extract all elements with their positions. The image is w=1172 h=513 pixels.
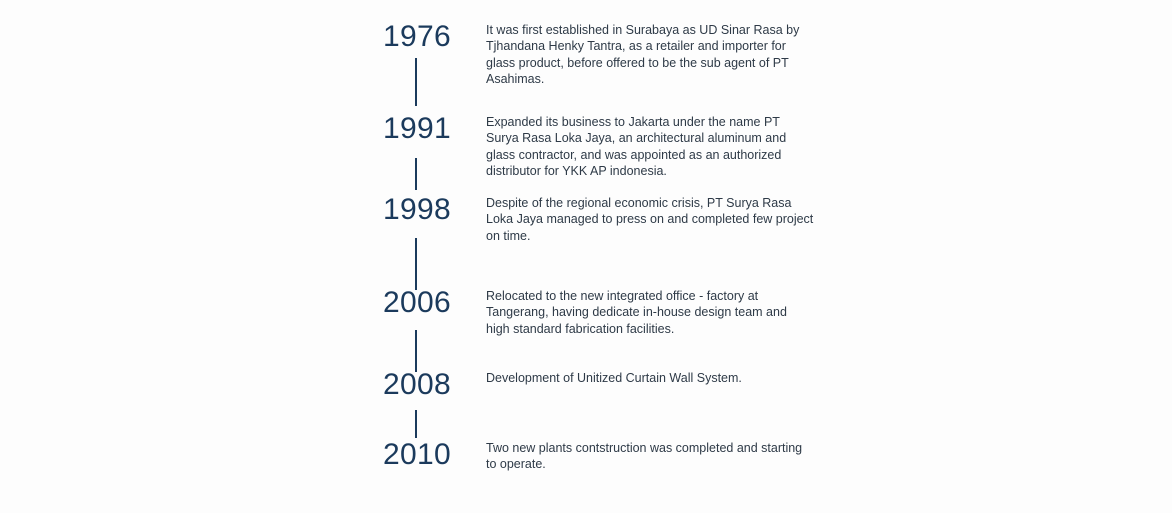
- timeline-connector-segment: [415, 238, 417, 290]
- timeline-year-column: 2008: [0, 370, 451, 400]
- timeline-year-label: 1991: [383, 114, 451, 144]
- timeline-year-label: 2006: [383, 288, 451, 318]
- timeline-year-column: 2010: [0, 440, 451, 470]
- timeline-description-column: Development of Unitized Curtain Wall Sys…: [486, 370, 808, 386]
- timeline-year-column: 2006: [0, 288, 451, 318]
- timeline-milestone: 2008 Development of Unitized Curtain Wal…: [0, 370, 808, 400]
- history-timeline: 1976 It was first established in Surabay…: [0, 0, 1172, 513]
- timeline-description-text: Two new plants contstruction was complet…: [486, 440, 808, 473]
- timeline-description-column: Relocated to the new integrated office -…: [486, 288, 808, 337]
- timeline-description-column: Two new plants contstruction was complet…: [486, 440, 808, 473]
- timeline-year-label: 1976: [383, 22, 451, 52]
- timeline-milestone: 1976 It was first established in Surabay…: [0, 22, 808, 88]
- timeline-year-column: 1998: [0, 195, 451, 225]
- timeline-year-column: 1991: [0, 114, 451, 144]
- timeline-year-label: 2010: [383, 440, 451, 470]
- timeline-milestone: 2006 Relocated to the new integrated off…: [0, 288, 808, 337]
- timeline-milestone: 1998 Despite of the regional economic cr…: [0, 195, 816, 244]
- timeline-year-column: 1976: [0, 22, 451, 52]
- timeline-description-column: Despite of the regional economic crisis,…: [486, 195, 816, 244]
- timeline-milestone: 1991 Expanded its business to Jakarta un…: [0, 114, 808, 180]
- timeline-description-text: Despite of the regional economic crisis,…: [486, 195, 816, 244]
- timeline-connector-segment: [415, 410, 417, 438]
- timeline-description-text: Development of Unitized Curtain Wall Sys…: [486, 370, 808, 386]
- timeline-description-column: Expanded its business to Jakarta under t…: [486, 114, 808, 180]
- timeline-year-label: 2008: [383, 370, 451, 400]
- timeline-description-text: Relocated to the new integrated office -…: [486, 288, 808, 337]
- timeline-year-label: 1998: [383, 195, 451, 225]
- timeline-description-column: It was first established in Surabaya as …: [486, 22, 808, 88]
- timeline-milestone: 2010 Two new plants contstruction was co…: [0, 440, 808, 473]
- timeline-description-text: It was first established in Surabaya as …: [486, 22, 808, 88]
- timeline-description-text: Expanded its business to Jakarta under t…: [486, 114, 808, 180]
